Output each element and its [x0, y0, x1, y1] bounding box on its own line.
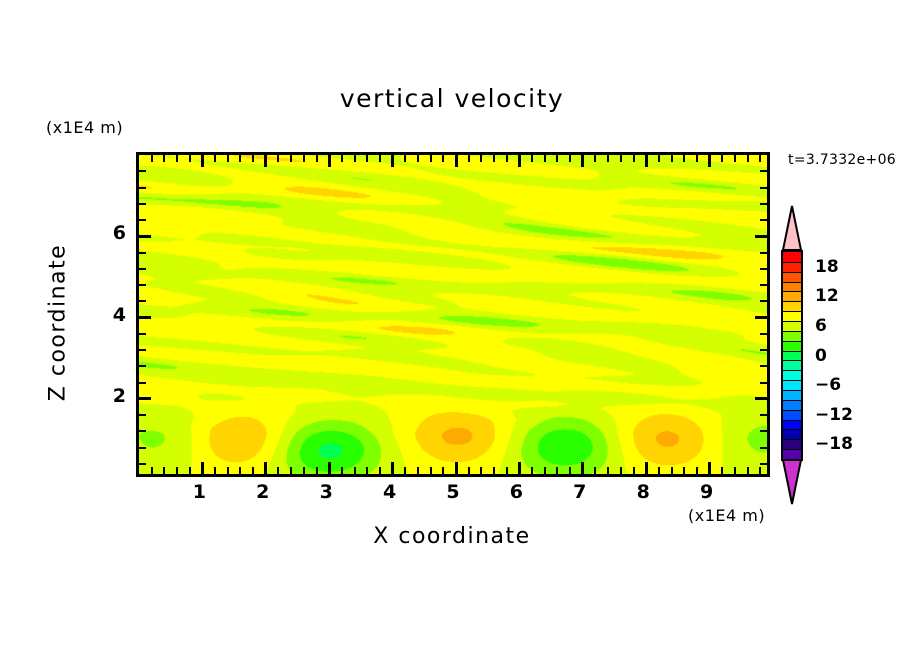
x-minor-tick-top: [176, 155, 178, 162]
x-minor-tick-top: [531, 155, 533, 162]
colorbar-band-separator: [783, 400, 801, 401]
x-minor-tick-top: [239, 155, 241, 162]
over-arrow-icon: [781, 205, 803, 251]
x-major-tick-top: [328, 155, 331, 167]
x-major-tick-top: [518, 155, 521, 167]
x-minor-tick-top: [290, 155, 292, 162]
x-minor-tick-top: [569, 155, 571, 162]
y-minor-tick-right: [760, 252, 767, 254]
y-minor-tick: [139, 414, 146, 416]
x-axis-title: X coordinate: [0, 524, 904, 549]
x-minor-tick: [468, 467, 470, 474]
x-tick-label: 4: [383, 481, 396, 503]
figure-canvas: vertical velocity (x1E4 m) (x1E4 m) X co…: [0, 0, 904, 654]
x-minor-tick-top: [658, 155, 660, 162]
x-minor-tick-top: [607, 155, 609, 162]
y-axis-unit-label: (x1E4 m): [46, 118, 123, 137]
x-minor-tick: [151, 467, 153, 474]
y-minor-tick-right: [760, 268, 767, 270]
y-major-tick-right: [755, 235, 767, 238]
y-minor-tick: [139, 447, 146, 449]
x-minor-tick: [277, 467, 279, 474]
y-major-tick: [139, 316, 151, 319]
x-minor-tick-top: [620, 155, 622, 162]
x-tick-label: 1: [193, 481, 206, 503]
y-minor-tick-right: [760, 382, 767, 384]
x-major-tick-top: [708, 155, 711, 167]
x-minor-tick-top: [316, 155, 318, 162]
y-minor-tick-right: [760, 463, 767, 465]
x-minor-tick: [341, 467, 343, 474]
colorbar-band-separator: [783, 370, 801, 371]
x-minor-tick: [696, 467, 698, 474]
colorbar-band-separator: [783, 272, 801, 273]
x-tick-label: 8: [637, 481, 650, 503]
x-minor-tick: [620, 467, 622, 474]
colorbar-band-separator: [783, 301, 801, 302]
x-minor-tick: [252, 467, 254, 474]
y-minor-tick: [139, 382, 146, 384]
x-minor-tick: [747, 467, 749, 474]
x-minor-tick: [442, 467, 444, 474]
x-minor-tick: [417, 467, 419, 474]
x-minor-tick: [430, 467, 432, 474]
y-minor-tick: [139, 365, 146, 367]
under-arrow-icon: [781, 459, 803, 505]
x-minor-tick-top: [734, 155, 736, 162]
x-minor-tick-top: [442, 155, 444, 162]
y-minor-tick: [139, 430, 146, 432]
y-minor-tick: [139, 333, 146, 335]
x-major-tick: [264, 462, 267, 474]
x-minor-tick-top: [189, 155, 191, 162]
colorbar-band-separator: [783, 449, 801, 450]
x-minor-tick: [316, 467, 318, 474]
x-minor-tick-top: [341, 155, 343, 162]
colorbar-tick-label: −18: [815, 434, 853, 454]
x-minor-tick: [759, 467, 761, 474]
x-minor-tick: [607, 467, 609, 474]
x-minor-tick: [721, 467, 723, 474]
vertical-velocity-field: [139, 155, 767, 474]
y-major-tick: [139, 397, 151, 400]
x-minor-tick: [569, 467, 571, 474]
x-minor-tick-top: [277, 155, 279, 162]
y-minor-tick-right: [760, 219, 767, 221]
y-tick-label: 2: [113, 385, 126, 407]
y-minor-tick: [139, 463, 146, 465]
x-minor-tick: [239, 467, 241, 474]
colorbar-over-arrow: [781, 205, 803, 251]
y-minor-tick-right: [760, 333, 767, 335]
colorbar-band-separator: [783, 282, 801, 283]
x-minor-tick: [189, 467, 191, 474]
colorbar-band-separator: [783, 351, 801, 352]
x-minor-tick: [214, 467, 216, 474]
x-minor-tick-top: [747, 155, 749, 162]
y-minor-tick: [139, 300, 146, 302]
y-minor-tick: [139, 219, 146, 221]
x-minor-tick-top: [493, 155, 495, 162]
x-minor-tick: [493, 467, 495, 474]
x-tick-label: 2: [256, 481, 269, 503]
y-minor-tick-right: [760, 203, 767, 205]
y-minor-tick: [139, 170, 146, 172]
x-minor-tick: [176, 467, 178, 474]
x-minor-tick: [366, 467, 368, 474]
x-minor-tick-top: [417, 155, 419, 162]
colorbar-tick-label: 6: [815, 316, 827, 336]
colorbar-band-separator: [783, 420, 801, 421]
x-minor-tick-top: [480, 155, 482, 162]
y-minor-tick: [139, 187, 146, 189]
y-major-tick-right: [755, 316, 767, 319]
y-axis-title: Z coordinate: [46, 213, 71, 433]
x-minor-tick-top: [163, 155, 165, 162]
colorbar-band-separator: [783, 331, 801, 332]
x-major-tick-top: [581, 155, 584, 167]
y-minor-tick-right: [760, 414, 767, 416]
x-minor-tick: [354, 467, 356, 474]
colorbar-band-separator: [783, 311, 801, 312]
x-minor-tick: [379, 467, 381, 474]
x-minor-tick: [633, 467, 635, 474]
x-minor-tick-top: [214, 155, 216, 162]
x-minor-tick-top: [594, 155, 596, 162]
x-minor-tick-top: [683, 155, 685, 162]
x-minor-tick-top: [759, 155, 761, 162]
x-major-tick-top: [264, 155, 267, 167]
y-minor-tick-right: [760, 170, 767, 172]
x-minor-tick: [480, 467, 482, 474]
x-minor-tick-top: [303, 155, 305, 162]
x-minor-tick-top: [633, 155, 635, 162]
colorbar-tick-label: 12: [815, 286, 839, 306]
colorbar-band-separator: [783, 341, 801, 342]
x-tick-label: 7: [573, 481, 586, 503]
y-major-tick-right: [755, 397, 767, 400]
timestamp-annotation: t=3.7332e+06: [788, 152, 896, 168]
page-title: vertical velocity: [0, 84, 904, 113]
contour-plot-area: [136, 152, 770, 477]
x-minor-tick: [734, 467, 736, 474]
x-major-tick-top: [645, 155, 648, 167]
x-tick-label: 3: [320, 481, 333, 503]
x-major-tick-top: [201, 155, 204, 167]
x-minor-tick: [671, 467, 673, 474]
y-minor-tick: [139, 252, 146, 254]
x-minor-tick: [404, 467, 406, 474]
colorbar-band-separator: [783, 429, 801, 430]
y-minor-tick-right: [760, 430, 767, 432]
x-minor-tick: [683, 467, 685, 474]
x-minor-tick-top: [696, 155, 698, 162]
x-major-tick: [328, 462, 331, 474]
x-minor-tick-top: [379, 155, 381, 162]
x-minor-tick-top: [151, 155, 153, 162]
x-minor-tick-top: [404, 155, 406, 162]
colorbar: 181260−6−12−18: [781, 205, 803, 505]
x-minor-tick: [227, 467, 229, 474]
colorbar-tick-label: 18: [815, 257, 839, 277]
y-tick-label: 4: [113, 304, 126, 326]
x-minor-tick-top: [544, 155, 546, 162]
x-major-tick: [455, 462, 458, 474]
x-minor-tick: [658, 467, 660, 474]
x-major-tick: [581, 462, 584, 474]
x-minor-tick-top: [354, 155, 356, 162]
colorbar-tick-label: 0: [815, 346, 827, 366]
colorbar-under-arrow: [781, 459, 803, 505]
x-major-tick: [708, 462, 711, 474]
x-tick-label: 9: [700, 481, 713, 503]
y-minor-tick: [139, 268, 146, 270]
y-minor-tick-right: [760, 284, 767, 286]
y-minor-tick-right: [760, 300, 767, 302]
x-minor-tick-top: [556, 155, 558, 162]
x-major-tick: [391, 462, 394, 474]
x-minor-tick: [506, 467, 508, 474]
x-tick-label: 6: [510, 481, 523, 503]
colorbar-band-separator: [783, 410, 801, 411]
x-minor-tick-top: [366, 155, 368, 162]
x-major-tick-top: [455, 155, 458, 167]
colorbar-band-separator: [783, 380, 801, 381]
colorbar-tick-label: −6: [815, 375, 841, 395]
x-minor-tick: [556, 467, 558, 474]
y-minor-tick: [139, 349, 146, 351]
y-minor-tick-right: [760, 349, 767, 351]
colorbar-band-separator: [783, 390, 801, 391]
x-minor-tick-top: [671, 155, 673, 162]
x-minor-tick-top: [468, 155, 470, 162]
colorbar-bands: [781, 250, 803, 461]
colorbar-band-separator: [783, 360, 801, 361]
x-minor-tick: [531, 467, 533, 474]
x-minor-tick: [303, 467, 305, 474]
y-minor-tick-right: [760, 365, 767, 367]
x-minor-tick: [290, 467, 292, 474]
x-tick-label: 5: [446, 481, 459, 503]
colorbar-band-separator: [783, 439, 801, 440]
y-tick-label: 6: [113, 222, 126, 244]
x-minor-tick: [594, 467, 596, 474]
y-minor-tick: [139, 284, 146, 286]
x-minor-tick-top: [430, 155, 432, 162]
colorbar-tick-label: −12: [815, 405, 853, 425]
x-minor-tick-top: [252, 155, 254, 162]
x-minor-tick-top: [227, 155, 229, 162]
x-minor-tick-top: [721, 155, 723, 162]
colorbar-band-separator: [783, 321, 801, 322]
colorbar-band-separator: [783, 262, 801, 263]
x-major-tick-top: [391, 155, 394, 167]
y-major-tick: [139, 235, 151, 238]
y-minor-tick-right: [760, 447, 767, 449]
x-major-tick: [518, 462, 521, 474]
x-minor-tick: [163, 467, 165, 474]
colorbar-band-separator: [783, 291, 801, 292]
x-major-tick: [645, 462, 648, 474]
y-minor-tick-right: [760, 187, 767, 189]
x-axis-unit-label: (x1E4 m): [688, 506, 765, 525]
x-major-tick: [201, 462, 204, 474]
x-minor-tick-top: [506, 155, 508, 162]
x-minor-tick: [544, 467, 546, 474]
y-minor-tick: [139, 203, 146, 205]
